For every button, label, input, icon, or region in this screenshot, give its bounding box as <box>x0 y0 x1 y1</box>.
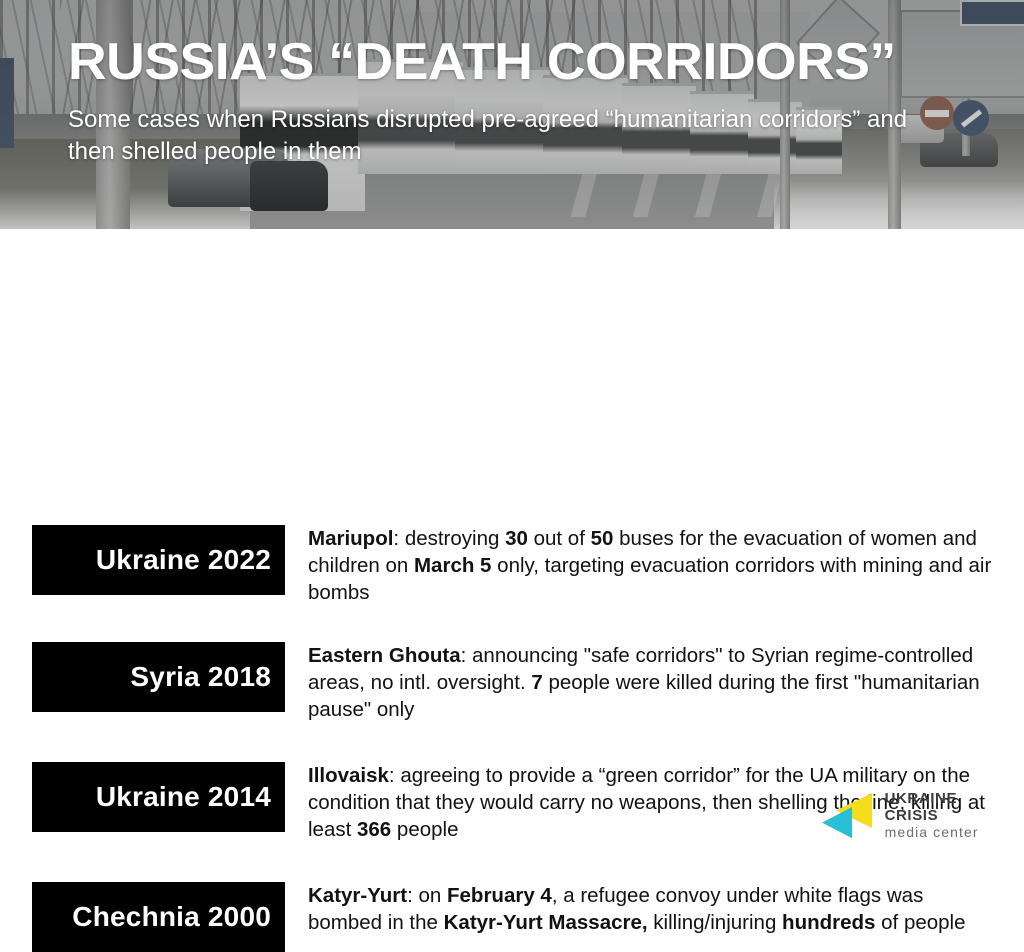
case-description: Katyr-Yurt: on February 4, a refugee con… <box>308 882 998 936</box>
case-row: Chechnia 2000 Katyr-Yurt: on February 4,… <box>0 882 1024 952</box>
page-title: RUSSIA’S “DEATH CORRIDORS” <box>68 34 995 90</box>
case-row: Syria 2018 Eastern Ghouta: announcing "s… <box>0 642 1024 723</box>
hero-text-block: RUSSIA’S “DEATH CORRIDORS” Some cases wh… <box>68 34 968 168</box>
page-subtitle: Some cases when Russians disrupted pre-a… <box>68 104 948 168</box>
logo-line-secondary: media center <box>885 825 1012 841</box>
case-tag: Ukraine 2014 <box>32 762 285 832</box>
case-tag: Ukraine 2022 <box>32 525 285 595</box>
case-tag: Chechnia 2000 <box>32 882 285 952</box>
logo-line-primary: UKRAINE CRISIS <box>885 791 1012 825</box>
ukraine-crisis-media-center-logo: UKRAINE CRISIS media center <box>822 788 1012 844</box>
case-tag: Syria 2018 <box>32 642 285 712</box>
case-description: Mariupol: destroying 30 out of 50 buses … <box>308 525 998 606</box>
case-description: Eastern Ghouta: announcing "safe corrido… <box>308 642 998 723</box>
hero-banner: RUSSIA’S “DEATH CORRIDORS” Some cases wh… <box>0 0 1024 229</box>
cyan-triangle-icon <box>822 807 852 838</box>
arrow-logo-icon <box>822 793 875 839</box>
logo-wordmark: UKRAINE CRISIS media center <box>885 791 1012 840</box>
case-row: Ukraine 2022 Mariupol: destroying 30 out… <box>0 525 1024 606</box>
